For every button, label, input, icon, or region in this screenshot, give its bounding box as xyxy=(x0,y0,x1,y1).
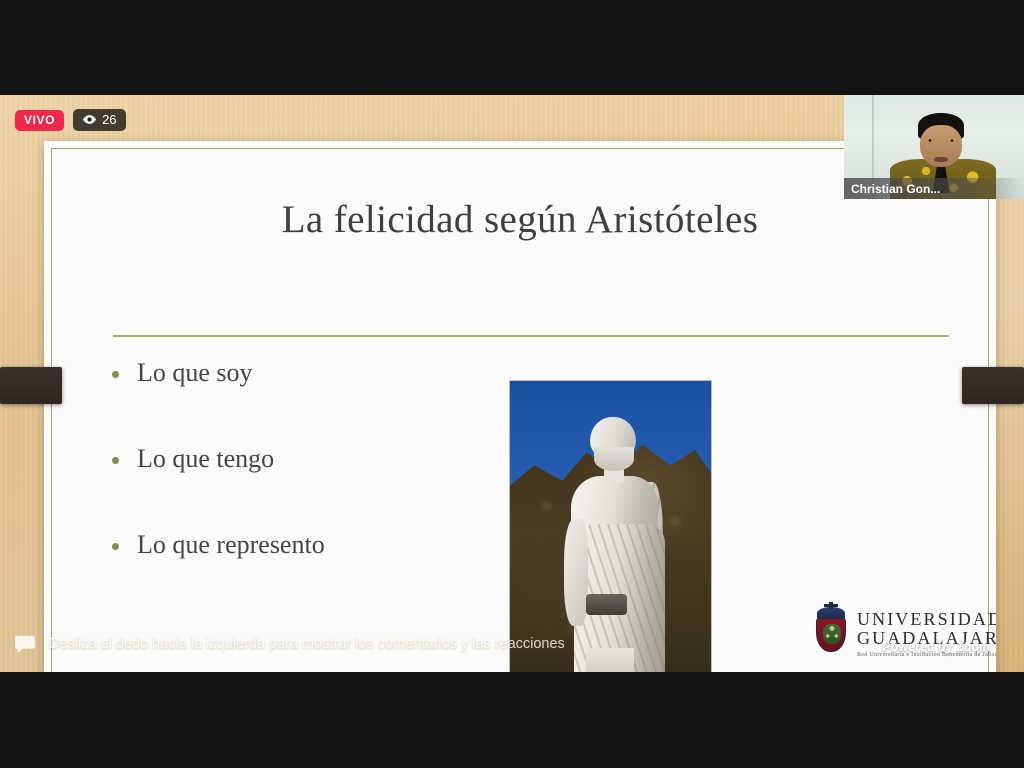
swipe-hint[interactable]: Desliza el dedo hacia la izquierda para … xyxy=(0,624,1024,664)
bullet-label: Lo que represento xyxy=(137,531,325,560)
bullet-dot-icon xyxy=(112,457,119,464)
slide-title: La felicidad según Aristóteles xyxy=(44,197,996,242)
slide-bullet-list: Lo que soy Lo que tengo Lo que represent… xyxy=(112,359,452,617)
list-item: Lo que tengo xyxy=(112,445,452,531)
participant-mouth xyxy=(934,157,948,162)
status-badge-live: VIVO xyxy=(15,110,64,131)
participant-name-label: Christian Gon... xyxy=(844,178,1024,199)
slide-content: La felicidad según Aristóteles Lo que so… xyxy=(44,141,996,672)
statue-arm xyxy=(564,519,588,626)
viewer-count-badge: 26 xyxy=(73,109,125,131)
stream-status-badges: VIVO 26 xyxy=(15,109,126,131)
previous-control-handle[interactable] xyxy=(0,367,62,404)
powered-by-label: Powered by Zoom xyxy=(882,640,990,654)
webcam-thumbnail[interactable]: Christian Gon... xyxy=(844,95,1024,199)
bullet-dot-icon xyxy=(112,371,119,378)
participant-eyes xyxy=(926,139,956,142)
list-item: Lo que represento xyxy=(112,531,452,617)
bullet-dot-icon xyxy=(112,543,119,550)
list-item: Lo que soy xyxy=(112,359,452,445)
eye-icon xyxy=(82,114,97,125)
video-stage[interactable]: La felicidad según Aristóteles Lo que so… xyxy=(0,95,1024,672)
viewer-count-value: 26 xyxy=(102,113,116,126)
bullet-label: Lo que soy xyxy=(137,359,253,388)
slide-title-rule xyxy=(113,335,949,337)
bullet-label: Lo que tengo xyxy=(137,445,274,474)
comment-bubble-icon xyxy=(14,635,36,654)
next-control-handle[interactable] xyxy=(962,367,1024,404)
statue-scroll xyxy=(586,594,627,615)
swipe-hint-text: Desliza el dedo hacia la izquierda para … xyxy=(49,636,565,652)
live-stream-screen: La felicidad según Aristóteles Lo que so… xyxy=(0,0,1024,768)
statue-beard xyxy=(594,447,634,471)
shared-slide: La felicidad según Aristóteles Lo que so… xyxy=(44,141,996,672)
